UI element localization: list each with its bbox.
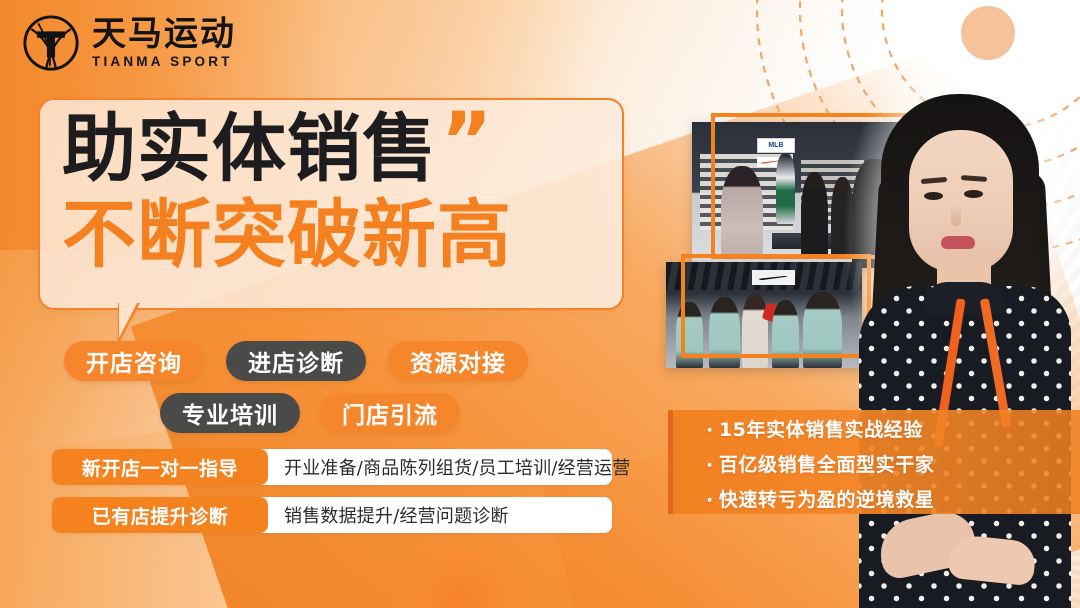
speech-bubble-tail-inner bbox=[119, 303, 137, 338]
service-row-new-store[interactable]: 新开店一对一指导 开业准备/商品陈列组货/员工培训/经营运营 bbox=[52, 449, 612, 485]
headline-line-2: 不断突破新高 bbox=[62, 198, 512, 272]
credentials-list: · 15年实体销售实战经验 · 百亿级销售全面型实干家 · 快速转亏为盈的逆境救… bbox=[706, 421, 1036, 526]
credential-text-2: 百亿级销售全面型实干家 bbox=[719, 456, 935, 475]
service-detail-existing-store: 销售数据提升/经营问题诊断 bbox=[268, 497, 509, 533]
consultant-portrait bbox=[845, 86, 1080, 608]
tag-kaidian-zixun[interactable]: 开店咨询 bbox=[64, 341, 204, 381]
tag-zhuanye-peixun[interactable]: 专业培训 bbox=[160, 393, 300, 433]
service-row-existing-store[interactable]: 已有店提升诊断 销售数据提升/经营问题诊断 bbox=[52, 497, 612, 533]
service-list: 新开店一对一指导 开业准备/商品陈列组货/员工培训/经营运营 已有店提升诊断 销… bbox=[52, 449, 612, 545]
tag-mendian-yinliu[interactable]: 门店引流 bbox=[320, 393, 460, 433]
bullet-dot-icon: · bbox=[706, 421, 714, 440]
credential-item-3: · 快速转亏为盈的逆境救星 bbox=[706, 491, 1036, 510]
headline: 助实体销售 ” 不断突破新高 bbox=[62, 112, 622, 272]
credential-item-1: · 15年实体销售实战经验 bbox=[706, 421, 1036, 440]
promo-banner: 天马运动 TIANMA SPORT 助实体销售 ” 不断突破新高 开店咨询 进店… bbox=[0, 0, 1080, 608]
credential-item-2: · 百亿级销售全面型实干家 bbox=[706, 456, 1036, 475]
tag-ziyuan-duijie[interactable]: 资源对接 bbox=[388, 341, 528, 381]
tag-jindian-zhenduan[interactable]: 进店诊断 bbox=[226, 341, 366, 381]
service-detail-new-store: 开业准备/商品陈列组货/员工培训/经营运营 bbox=[268, 449, 630, 485]
quote-mark-icon: ” bbox=[441, 112, 493, 173]
credential-text-1: 15年实体销售实战经验 bbox=[719, 421, 923, 440]
brand-name-en: TIANMA SPORT bbox=[92, 55, 236, 69]
bullet-dot-icon-3: · bbox=[706, 491, 714, 510]
credential-text-3: 快速转亏为盈的逆境救星 bbox=[719, 491, 935, 510]
brand-logo: 天马运动 TIANMA SPORT bbox=[22, 14, 236, 72]
credentials-band-edge bbox=[668, 410, 673, 514]
peach-dot-upper-icon bbox=[961, 6, 1015, 60]
headline-line-1: 助实体销售 bbox=[62, 112, 437, 186]
service-label-new-store: 新开店一对一指导 bbox=[52, 449, 268, 485]
brand-name-cn: 天马运动 bbox=[92, 17, 236, 51]
basketball-t-emblem-icon bbox=[22, 14, 80, 72]
service-label-existing-store: 已有店提升诊断 bbox=[52, 497, 268, 533]
bullet-dot-icon-2: · bbox=[706, 456, 714, 475]
service-tag-group: 开店咨询 进店诊断 资源对接 专业培训 门店引流 bbox=[64, 341, 644, 445]
